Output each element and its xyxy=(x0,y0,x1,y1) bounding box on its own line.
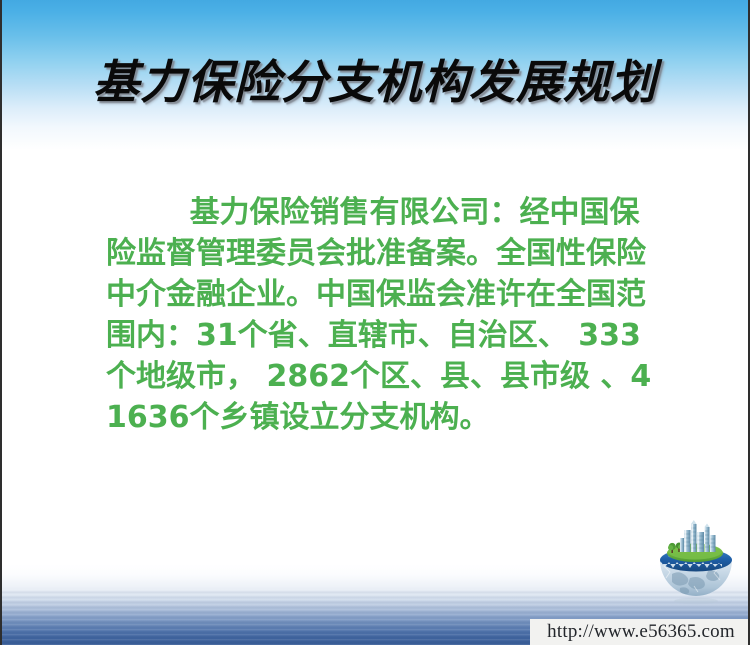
presentation-slide: 基力保险分支机构发展规划 基力保险销售有限公司：经中国保险监督管理委员会批准备案… xyxy=(0,0,750,645)
slide-title: 基力保险分支机构发展规划 xyxy=(2,58,748,109)
watermark-url-box: http://www.e56365.com xyxy=(530,619,750,645)
earth-city-globe-icon xyxy=(650,516,742,608)
watermark-url-text: http://www.e56365.com xyxy=(547,621,735,643)
slide-body-text: 基力保险销售有限公司：经中国保险监督管理委员会批准备案。全国性保险中介金融企业。… xyxy=(106,192,658,438)
